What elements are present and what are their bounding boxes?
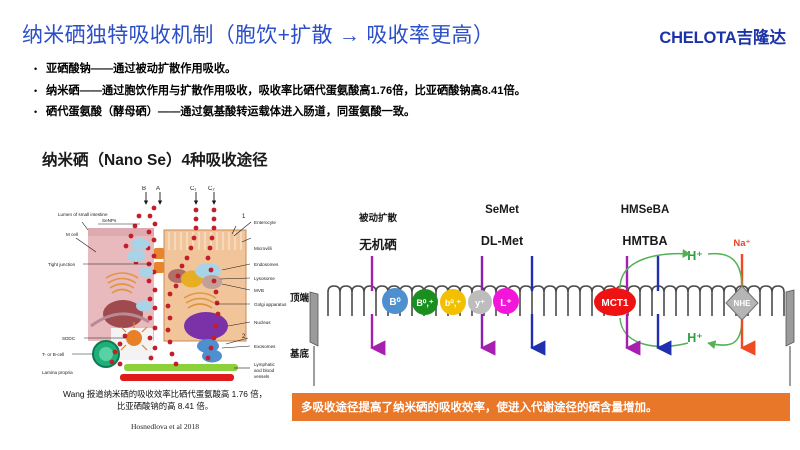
transporter-yplus-label: y⁺ [475, 298, 485, 308]
figure-label-mcell: M cell [66, 232, 78, 237]
bullet-list: • 亚硒酸钠——通过被动扩散作用吸收。 • 纳米硒——通过胞饮作用与扩散作用吸收… [34, 62, 674, 127]
conclusion-callout: 多吸收途径提高了纳米硒的吸收效率，使进入代谢途径的硒含量增加。 [292, 393, 790, 421]
transporter-lplus-label: L⁺ [500, 298, 511, 309]
figure-label-golgi: Golgi apparatus [254, 302, 287, 307]
figure-label-vessels3: vessels [254, 374, 270, 379]
transporter-b0plus-label: B⁰,⁺ [416, 298, 434, 308]
figure-path-b: B [142, 186, 146, 192]
logo-en: CHELOTA [659, 29, 736, 47]
bullet-marker-icon: • [34, 62, 46, 77]
figure-caption-line1: Wang 报道纳米硒的吸收效率比硒代蛋氨酸高 1.76 倍， [40, 388, 290, 400]
bullet-marker-icon: • [34, 84, 46, 99]
figure-label-lysosome: Lysosome [254, 276, 275, 281]
transporter-diagram: 被动扩散 SeMet HMSeBA 无机硒 DL-Met HMTBA Na⁺ H… [290, 196, 800, 386]
transporter-b0plus-small-label: b⁰,⁺ [445, 298, 462, 308]
list-item: • 纳米硒——通过胞饮作用与扩散作用吸收，吸收率比硒代蛋氨酸高1.76倍，比亚硒… [34, 84, 674, 99]
proton-arc-upper-right [708, 254, 742, 288]
figure-label-tbcell: T- or B-cell [42, 352, 64, 357]
bullet-text: 硒代蛋氨酸（酵母硒）——通过氨基酸转运载体进入肠道，同蛋氨酸一致。 [46, 105, 415, 120]
figure-caption-line2: 比亚硒酸钠的高 8.41 倍。 [40, 400, 290, 412]
figure-label-lamina: Lamina propria [42, 370, 73, 375]
figure-path-c1: C₁ [190, 186, 196, 192]
section-heading: 纳米硒（Nano Se）4种吸收途径 [42, 148, 268, 170]
figure-num-1: 1 [242, 214, 246, 220]
page-title: 纳米硒独特吸收机制（胞饮+扩散 → 吸收率更高） [22, 19, 494, 49]
transporter-mct1-label: MCT1 [601, 298, 629, 309]
bullet-text: 亚硒酸钠——通过被动扩散作用吸收。 [46, 62, 236, 77]
transporter-nhe-label: NHE [734, 299, 752, 308]
figure-label-enterocyte: Enterocyte [254, 220, 276, 225]
figure-path-a: A [156, 186, 160, 192]
figure-path-c2: C₂ [208, 186, 215, 192]
absorption-pathway-figure: Lumen of small intestine M cell SeNPs Ti… [36, 186, 301, 386]
figure-label-lumen: Lumen of small intestine [58, 212, 108, 217]
proton-arc-lower-left [620, 318, 688, 346]
figure-label-vessels2: and blood [254, 368, 275, 373]
figure-label-vessels: Lymphatic [254, 362, 275, 367]
proton-arc-lower-right [708, 318, 742, 345]
figure-label-nucleus: Nucleus [254, 320, 271, 325]
figure-label-mvb: MVB [254, 288, 264, 293]
figure-label-senps: SeNPs [102, 218, 117, 223]
basolateral-edge-bar [786, 290, 794, 346]
figure-label-exosomes: Exosomes [254, 344, 276, 349]
logo-cn: 吉隆达 [737, 29, 787, 47]
slide-canvas: 纳米硒独特吸收机制（胞饮+扩散 → 吸收率更高） CHELOTA吉隆达 • 亚硒… [0, 0, 800, 450]
list-item: • 硒代蛋氨酸（酵母硒）——通过氨基酸转运载体进入肠道，同蛋氨酸一致。 [34, 105, 674, 120]
transporter-b0-label: B⁰ [389, 297, 400, 308]
bullet-marker-icon: • [34, 105, 46, 120]
figure-citation: Hosnedlova et al 2018 [40, 422, 290, 431]
proton-arc-upper-left [620, 254, 690, 288]
apical-edge-bar [310, 292, 318, 346]
membrane-svg: B⁰ B⁰,⁺ b⁰,⁺ y⁺ L⁺ MCT1 NHE [290, 196, 800, 386]
figure-svg: Lumen of small intestine M cell SeNPs Ti… [36, 186, 301, 386]
figure-label-microvilli: Microvilli [254, 246, 272, 251]
bullet-text: 纳米硒——通过胞饮作用与扩散作用吸收，吸收率比硒代蛋氨酸高1.76倍，比亚硒酸钠… [46, 84, 526, 99]
list-item: • 亚硒酸钠——通过被动扩散作用吸收。 [34, 62, 674, 77]
figure-caption: Wang 报道纳米硒的吸收效率比硒代蛋氨酸高 1.76 倍， 比亚硒酸钠的高 8… [40, 388, 290, 412]
conclusion-text: 多吸收途径提高了纳米硒的吸收效率，使进入代谢途径的硒含量增加。 [301, 399, 658, 415]
figure-label-sddc: SDDC [62, 336, 76, 341]
brand-logo: CHELOTA吉隆达 [659, 24, 786, 48]
figure-label-endosomes: Endosomes [254, 262, 279, 267]
figure-label-tight-junction: Tight junction [48, 262, 76, 267]
